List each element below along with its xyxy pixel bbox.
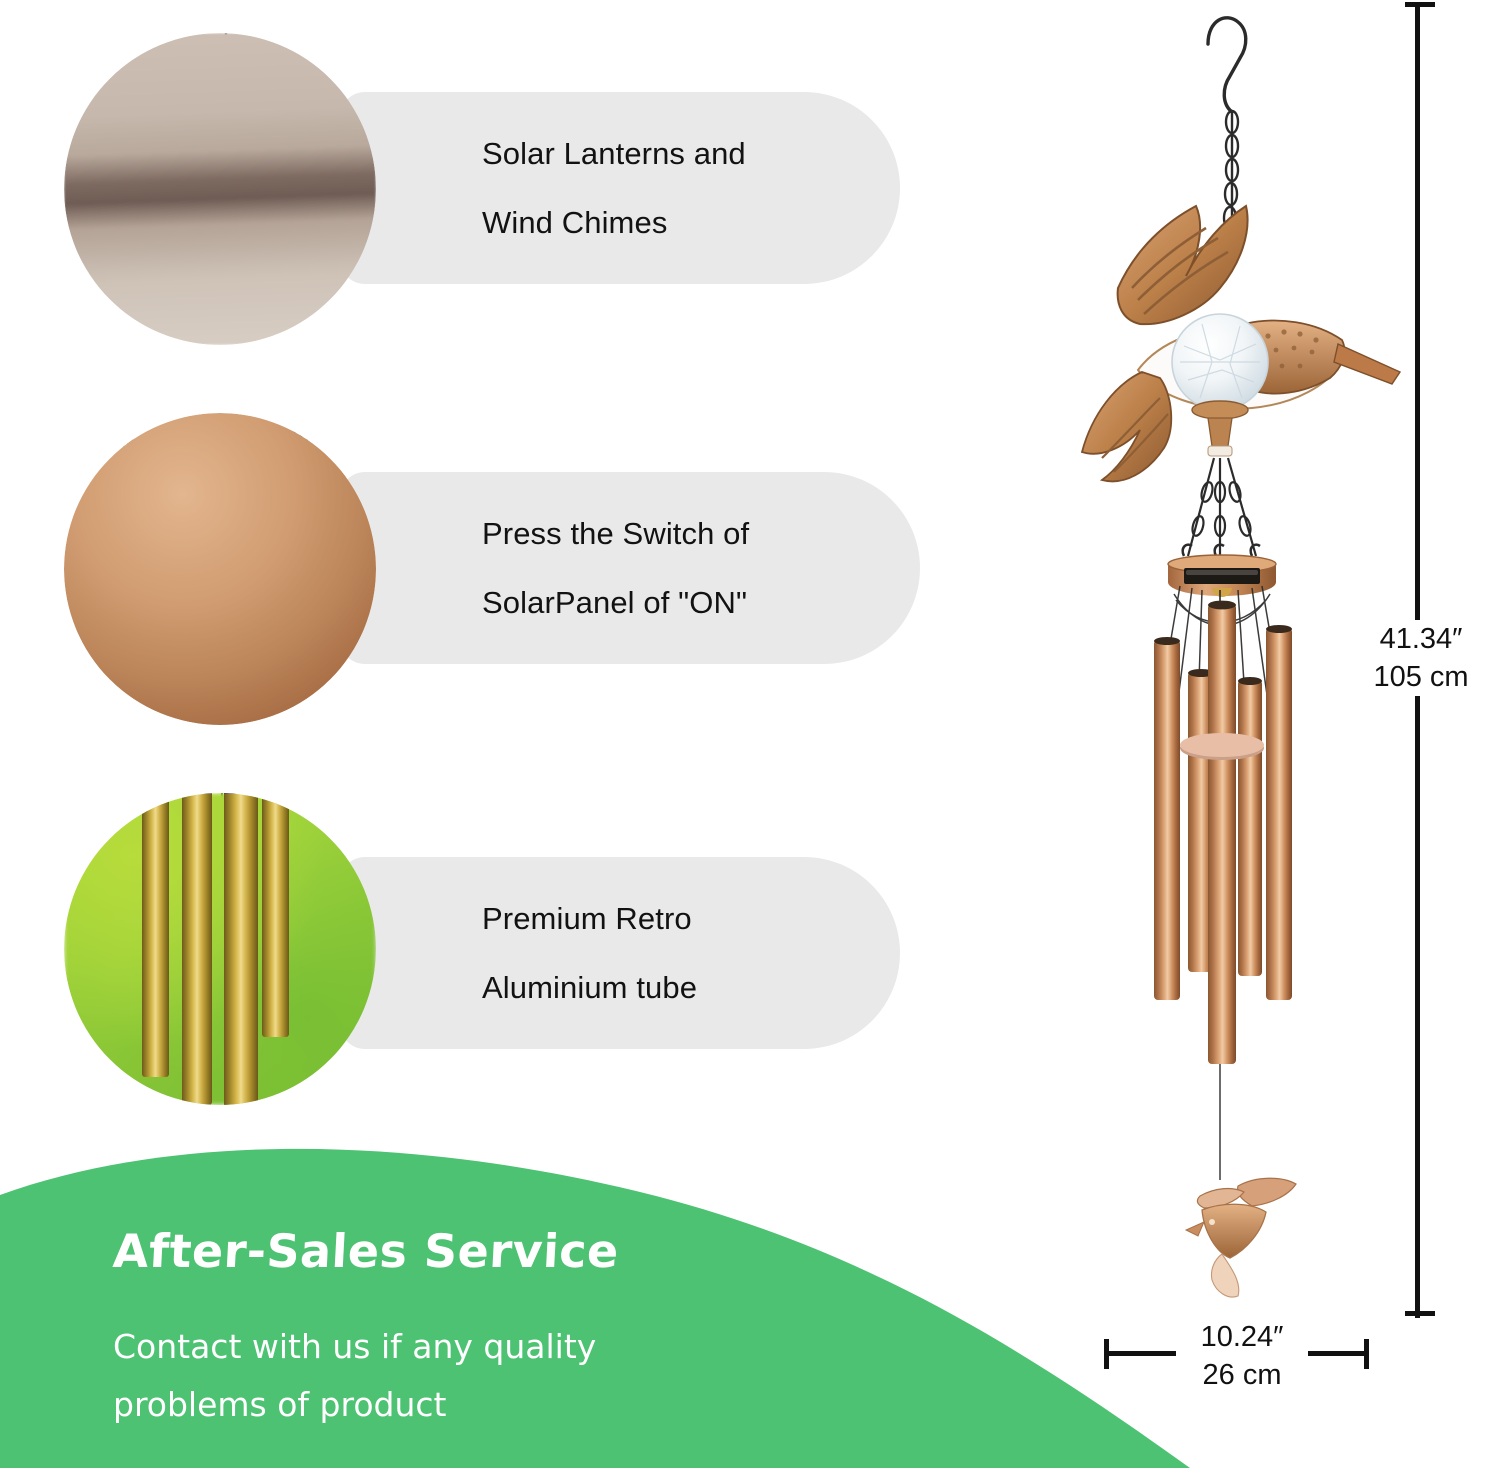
dimension-height-cm: 105 cm	[1366, 658, 1476, 696]
solar-panel-photo	[64, 413, 376, 725]
chime-tube	[224, 793, 258, 1105]
feature-label-line-2a: Press the Switch of	[482, 518, 920, 549]
solar-cap-disc	[1168, 555, 1276, 597]
chime-tube	[262, 793, 289, 1037]
aluminium-chime-tubes	[1154, 601, 1292, 1064]
dimension-height-label: 41.34″ 105 cm	[1366, 620, 1476, 696]
wind-sail-disc	[1180, 733, 1264, 760]
feature-label-pill-1: Solar Lanterns and Wind Chimes	[340, 92, 900, 284]
feature-label-line-2b: SolarPanel of "ON"	[482, 587, 920, 618]
hummingbird-globe-photo	[64, 33, 376, 345]
chime-tube	[142, 793, 169, 1077]
infographic-canvas: Solar Lanterns and Wind Chimes	[0, 0, 1500, 1468]
feature-label-pill-2: Press the Switch of SolarPanel of "ON"	[340, 472, 920, 664]
photo-background-copper	[64, 413, 376, 725]
after-sales-title: After-Sales Service	[112, 1224, 621, 1278]
feature-label-line-3b: Aluminium tube	[482, 972, 900, 1003]
feature-label-pill-3: Premium Retro Aluminium tube	[340, 857, 900, 1049]
feature-label-line-1b: Wind Chimes	[482, 207, 900, 238]
after-sales-body-line-1: Contact with us if any quality	[113, 1318, 596, 1376]
chime-tube	[182, 793, 212, 1105]
photo-background-taupe	[64, 33, 376, 345]
dimension-cap-top	[1405, 2, 1435, 7]
s-hook-icon	[1208, 18, 1246, 112]
hummingbird-with-glass-globe	[1082, 206, 1400, 481]
hanging-chain	[1183, 458, 1260, 556]
feature-label-line-3a: Premium Retro	[482, 903, 900, 934]
photo-background-grass	[64, 793, 376, 1105]
feature-label-line-1a: Solar Lanterns and	[482, 138, 900, 169]
after-sales-body-line-2: problems of product	[113, 1376, 596, 1434]
dimension-height-inches: 41.34″	[1366, 620, 1476, 658]
aluminium-tubes-photo	[64, 793, 376, 1105]
after-sales-body: Contact with us if any quality problems …	[113, 1318, 596, 1434]
